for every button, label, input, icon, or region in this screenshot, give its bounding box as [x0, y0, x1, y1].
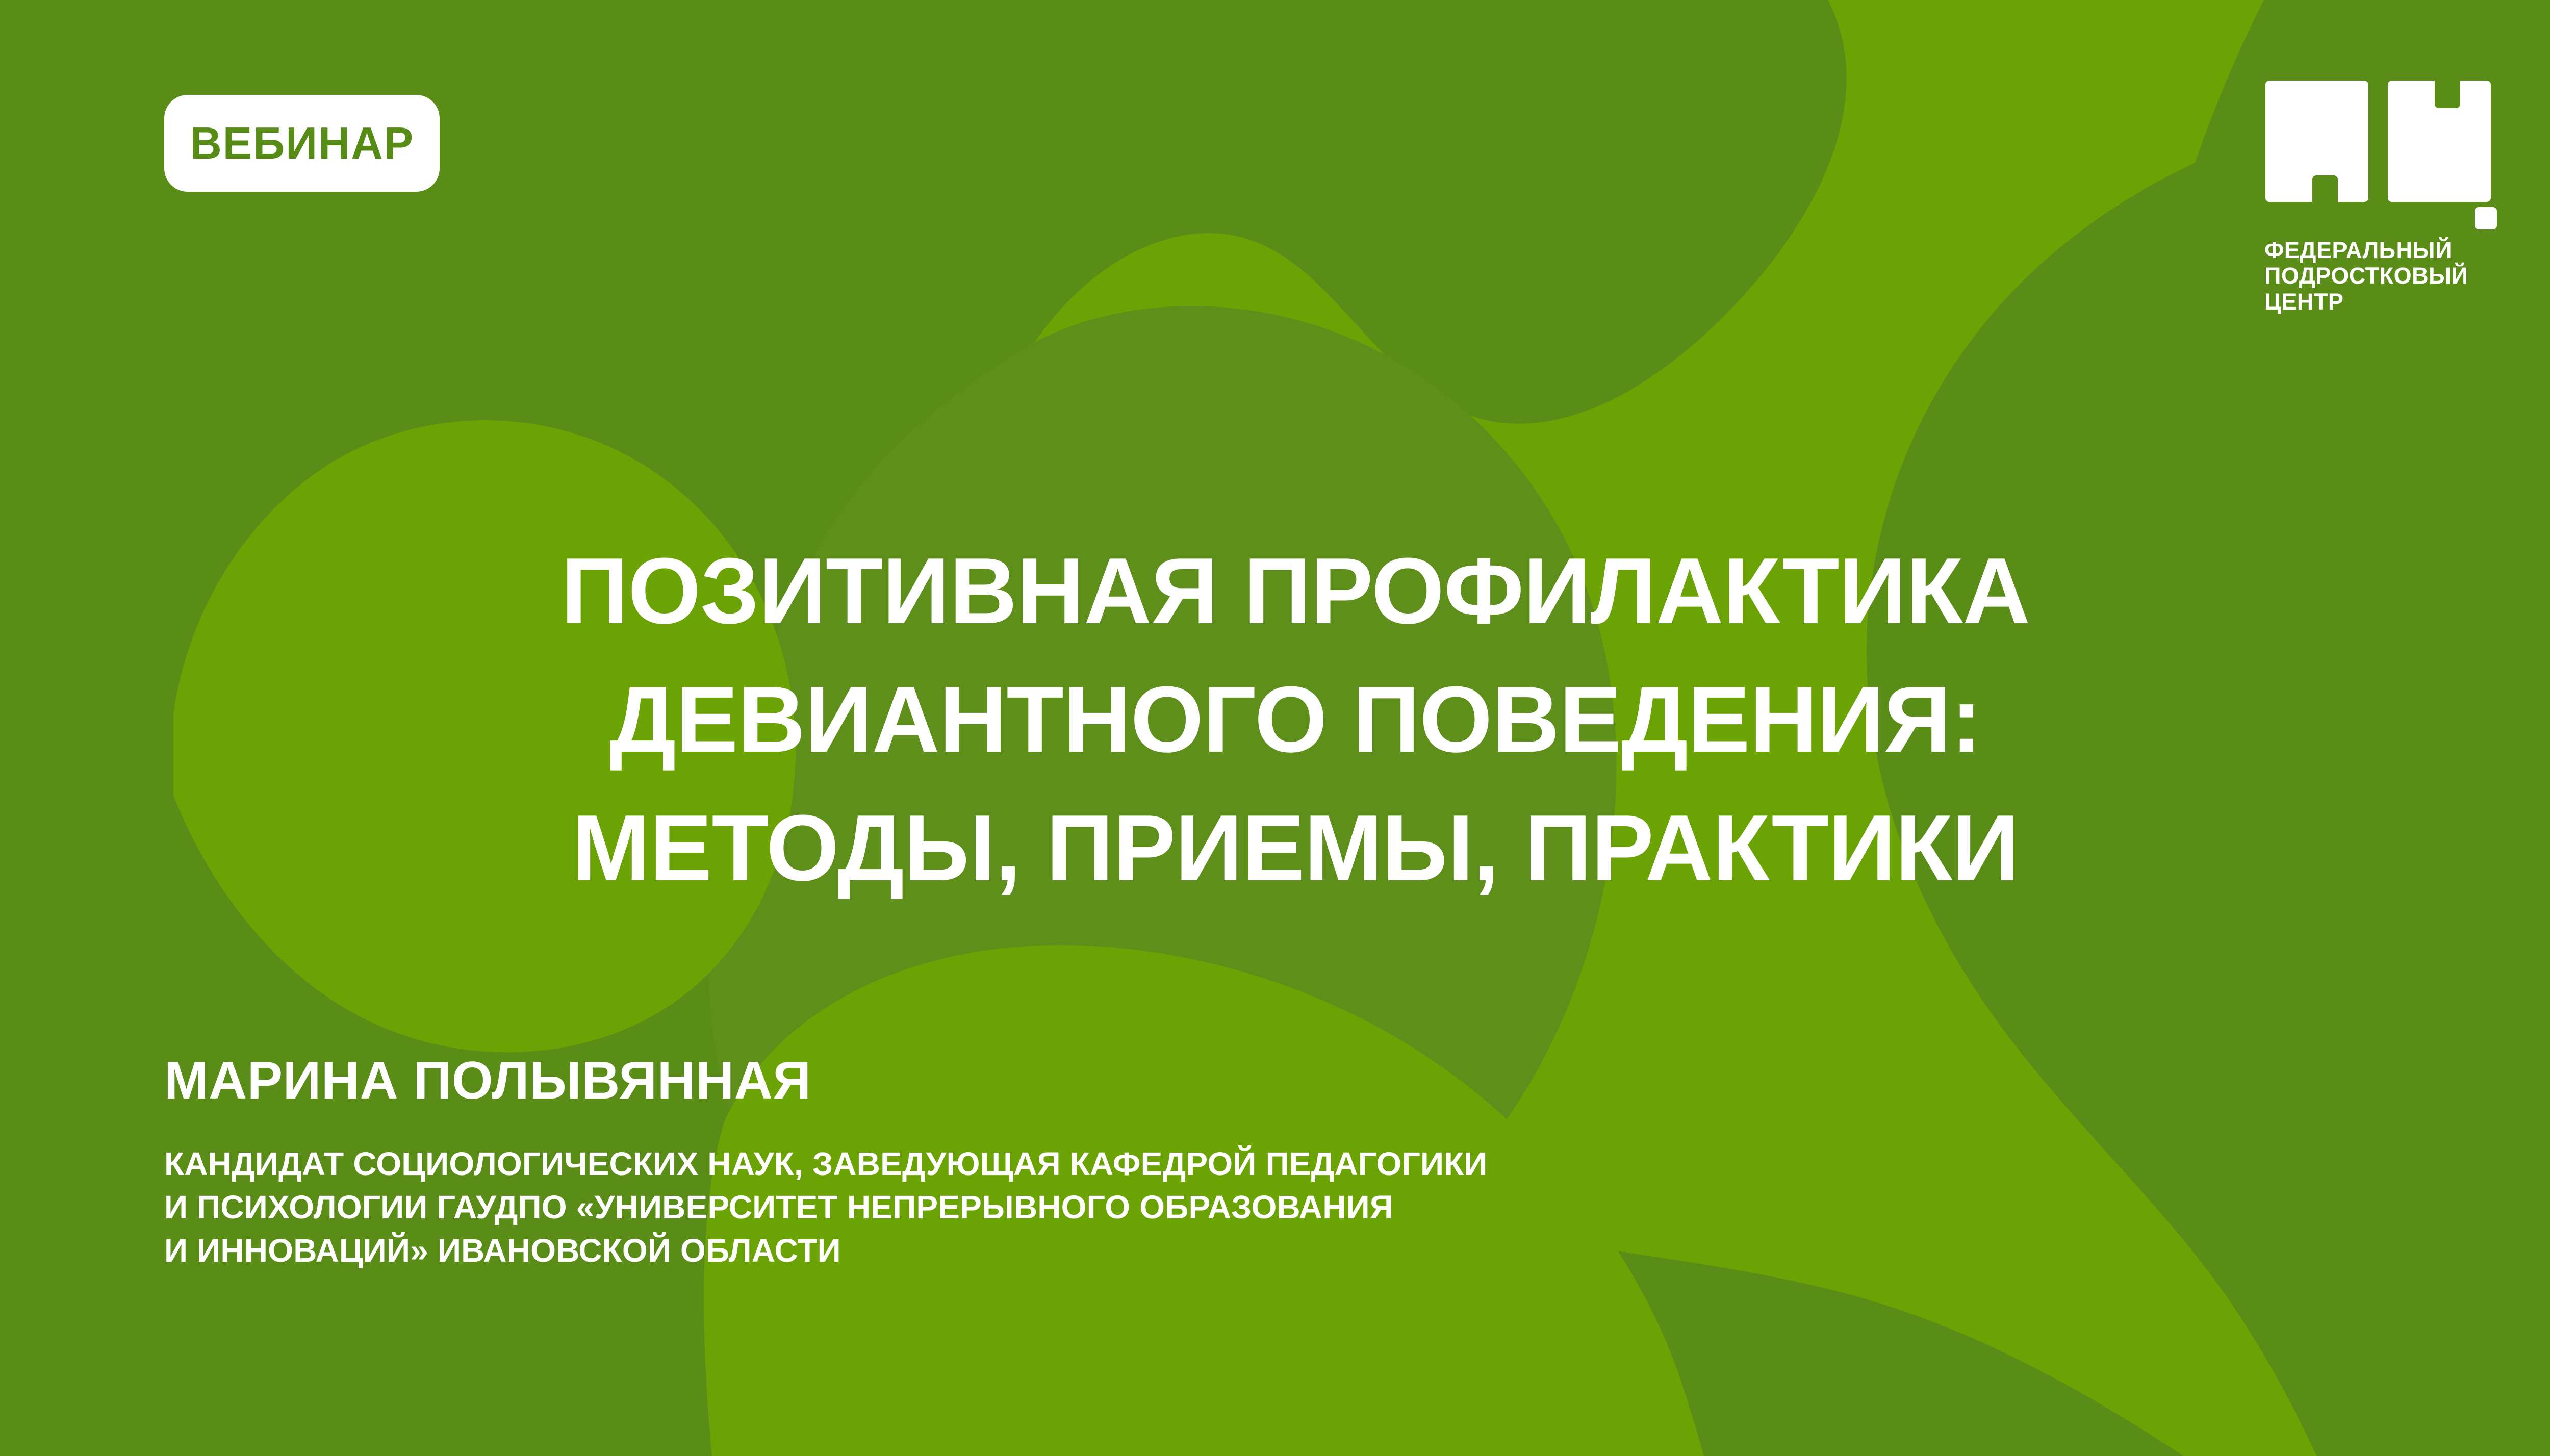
webinar-badge: ВЕБИНАР — [164, 95, 440, 192]
speaker-info: МАРИНА ПОЛЫВЯННАЯ КАНДИДАТ СОЦИОЛОГИЧЕСК… — [164, 1053, 1488, 1272]
webinar-title-slide: ВЕБИНАР ФЕДЕРАЛЬНЫЙ ПОДРОСТКОВЫЙ ЦЕНТР П… — [0, 0, 2550, 1456]
speaker-credentials-line-2: И ПСИХОЛОГИИ ГАУДПО «УНИВЕРСИТЕТ НЕПРЕРЫ… — [164, 1186, 1488, 1229]
federal-teen-center-logo-mark-icon — [2264, 76, 2504, 229]
logo-line-1: ФЕДЕРАЛЬНЫЙ — [2264, 238, 2504, 263]
webinar-badge-label: ВЕБИНАР — [190, 121, 414, 166]
speaker-credentials: КАНДИДАТ СОЦИОЛОГИЧЕСКИХ НАУК, ЗАВЕДУЮЩА… — [164, 1142, 1488, 1272]
logo-line-2: ПОДРОСТКОВЫЙ — [2264, 263, 2504, 289]
title-line-1: ПОЗИТИВНАЯ ПРОФИЛАКТИКА — [352, 526, 2239, 655]
page-title: ПОЗИТИВНАЯ ПРОФИЛАКТИКА ДЕВИАНТНОГО ПОВЕ… — [352, 526, 2239, 912]
title-line-3: МЕТОДЫ, ПРИЕМЫ, ПРАКТИКИ — [352, 783, 2239, 912]
title-line-2: ДЕВИАНТНОГО ПОВЕДЕНИЯ: — [352, 655, 2239, 783]
speaker-credentials-line-1: КАНДИДАТ СОЦИОЛОГИЧЕСКИХ НАУК, ЗАВЕДУЮЩА… — [164, 1142, 1488, 1186]
logo-wordmark: ФЕДЕРАЛЬНЫЙ ПОДРОСТКОВЫЙ ЦЕНТР — [2264, 238, 2504, 315]
speaker-credentials-line-3: И ИННОВАЦИЙ» ИВАНОВСКОЙ ОБЛАСТИ — [164, 1229, 1488, 1272]
organization-logo: ФЕДЕРАЛЬНЫЙ ПОДРОСТКОВЫЙ ЦЕНТР — [2264, 76, 2504, 315]
speaker-name: МАРИНА ПОЛЫВЯННАЯ — [164, 1053, 1488, 1109]
logo-line-3: ЦЕНТР — [2264, 289, 2504, 315]
